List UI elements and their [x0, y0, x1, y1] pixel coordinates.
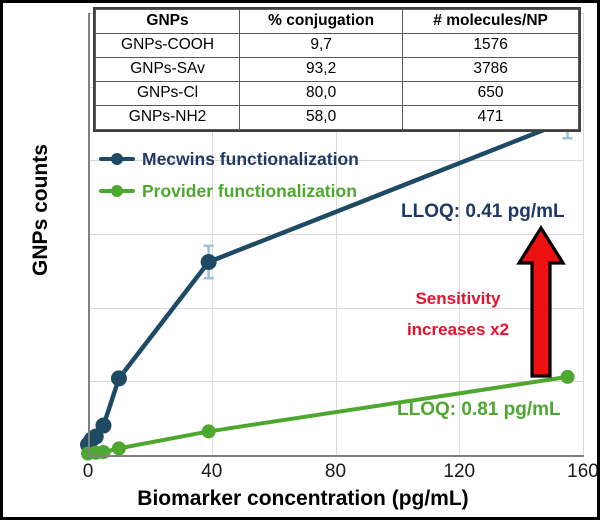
table-row: GNPs-COOH 9,7 1576	[96, 33, 579, 57]
legend-item-mecwins: Mecwins functionalization	[99, 146, 359, 172]
gnps-summary-table: GNPs % conjugation # molecules/NP GNPs-C…	[93, 7, 581, 132]
table-header-cell: GNPs	[96, 10, 240, 34]
annotation-lloq-provider: LLOQ: 0.81 pg/mL	[397, 399, 561, 421]
x-axis-tick-label: 160	[553, 461, 600, 483]
table-cell-conjugation: 9,7	[240, 33, 403, 57]
y-axis-line	[88, 13, 90, 456]
chart-figure: 050010001500200025003000 04080120160 GNP…	[0, 0, 600, 520]
table-header-row: GNPs % conjugation # molecules/NP	[96, 10, 579, 34]
data-point-marker	[95, 418, 111, 434]
x-axis-line	[88, 455, 584, 457]
x-axis-tick-label: 40	[182, 461, 242, 483]
x-axis-tick-label: 0	[58, 461, 118, 483]
legend-label-provider: Provider functionalization	[142, 181, 357, 202]
table-header-cell: # molecules/NP	[403, 10, 579, 34]
table-cell-conjugation: 58,0	[240, 105, 403, 129]
chart-legend: Mecwins functionalization Provider funct…	[99, 146, 359, 210]
table-header-cell: % conjugation	[240, 10, 403, 34]
annotation-sensitivity-line1: Sensitivity	[399, 283, 517, 314]
legend-marker-icon	[99, 184, 135, 198]
data-point-marker	[111, 370, 127, 386]
data-point-marker	[202, 424, 216, 438]
annotation-lloq-mecwins: LLOQ: 0.41 pg/mL	[401, 201, 565, 223]
annotation-sensitivity: Sensitivity increases x2	[399, 283, 517, 346]
table-cell-conjugation: 80,0	[240, 81, 403, 105]
data-point-marker	[201, 254, 217, 270]
x-axis-tick-label: 80	[306, 461, 366, 483]
gridline-vertical	[583, 13, 584, 455]
up-arrow-icon	[516, 225, 566, 379]
table-cell-molecules: 471	[403, 105, 579, 129]
legend-item-provider: Provider functionalization	[99, 178, 359, 204]
table-row: GNPs-NH2 58,0 471	[96, 105, 579, 129]
table-cell-gnp-name: GNPs-NH2	[96, 105, 240, 129]
x-axis-title: Biomarker concentration (pg/mL)	[3, 487, 600, 511]
table-cell-molecules: 650	[403, 81, 579, 105]
table-cell-gnp-name: GNPs-COOH	[96, 33, 240, 57]
annotation-sensitivity-line2: increases x2	[399, 314, 517, 345]
table-cell-conjugation: 93,2	[240, 57, 403, 81]
x-axis-tick-label: 120	[429, 461, 489, 483]
table-cell-gnp-name: GNPs-Cl	[96, 81, 240, 105]
table-row: GNPs-Cl 80,0 650	[96, 81, 579, 105]
table-cell-molecules: 3786	[403, 57, 579, 81]
table-cell-molecules: 1576	[403, 33, 579, 57]
data-point-marker	[112, 441, 126, 455]
legend-label-mecwins: Mecwins functionalization	[142, 149, 359, 170]
table-cell-gnp-name: GNPs-SAv	[96, 57, 240, 81]
table-row: GNPs-SAv 93,2 3786	[96, 57, 579, 81]
legend-marker-icon	[99, 152, 135, 166]
y-axis-title: GNPs counts	[29, 100, 53, 320]
